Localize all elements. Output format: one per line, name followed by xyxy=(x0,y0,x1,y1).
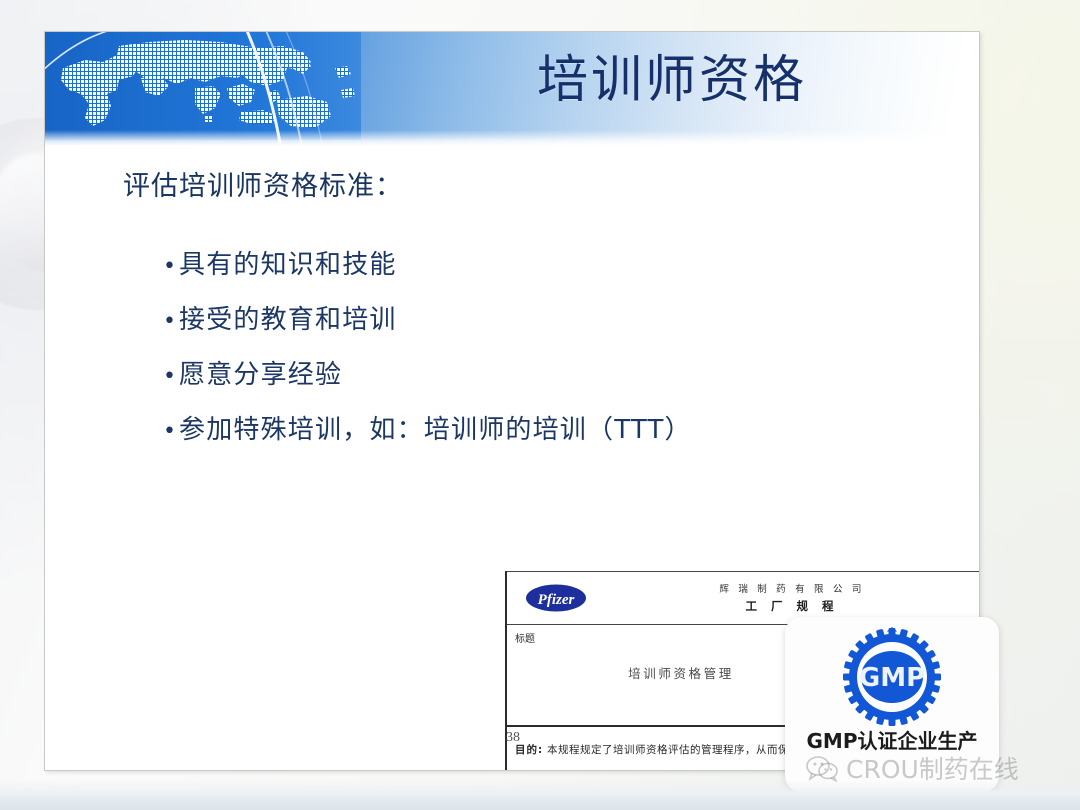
header-fade xyxy=(45,130,979,146)
sop-title-label: 标题 xyxy=(515,630,535,645)
list-item-label: 具有的知识和技能 xyxy=(179,244,397,281)
slide-title: 培训师资格 xyxy=(537,54,807,108)
slide-lead-text: 评估培训师资格标准： xyxy=(123,164,403,203)
bullet-list: • 具有的知识和技能 • 接受的教育和培训 • 愿意分享经验 • 参加特殊培训，… xyxy=(163,244,903,464)
list-item-label: 愿意分享经验 xyxy=(179,354,342,391)
list-item-label: 参加特殊培训，如：培训师的培训（TTT） xyxy=(179,409,692,446)
sop-company-name: 辉 瑞 制 药 有 限 公 司 xyxy=(667,581,917,595)
list-item: • 参加特殊培训，如：培训师的培训（TTT） xyxy=(163,409,903,446)
wechat-icon xyxy=(805,754,839,782)
gmp-badge-icon: GMP xyxy=(840,625,944,729)
sop-document-type: 工 厂 规 程 xyxy=(667,598,917,614)
slide-header-band: 培训师资格 xyxy=(45,32,979,146)
bullet-marker-icon: • xyxy=(163,254,179,279)
pfizer-logo: Pfizer xyxy=(525,583,587,613)
list-item: • 具有的知识和技能 xyxy=(163,244,903,281)
page-backdrop: 培训师资格 评估培训师资格标准： • 具有的知识和技能 • 接受的教育和培训 •… xyxy=(0,0,1080,810)
bullet-marker-icon: • xyxy=(163,364,179,389)
bottom-band xyxy=(0,791,1080,810)
bottom-band-highlight xyxy=(0,779,1080,791)
list-item: • 接受的教育和培训 xyxy=(163,299,903,336)
bullet-marker-icon: • xyxy=(163,419,179,444)
bullet-marker-icon: • xyxy=(163,309,179,334)
svg-text:Pfizer: Pfizer xyxy=(538,592,575,608)
list-item: • 愿意分享经验 xyxy=(163,354,903,391)
world-map-icon xyxy=(45,32,361,140)
list-item-label: 接受的教育和培训 xyxy=(179,299,397,336)
svg-text:GMP: GMP xyxy=(859,663,925,693)
